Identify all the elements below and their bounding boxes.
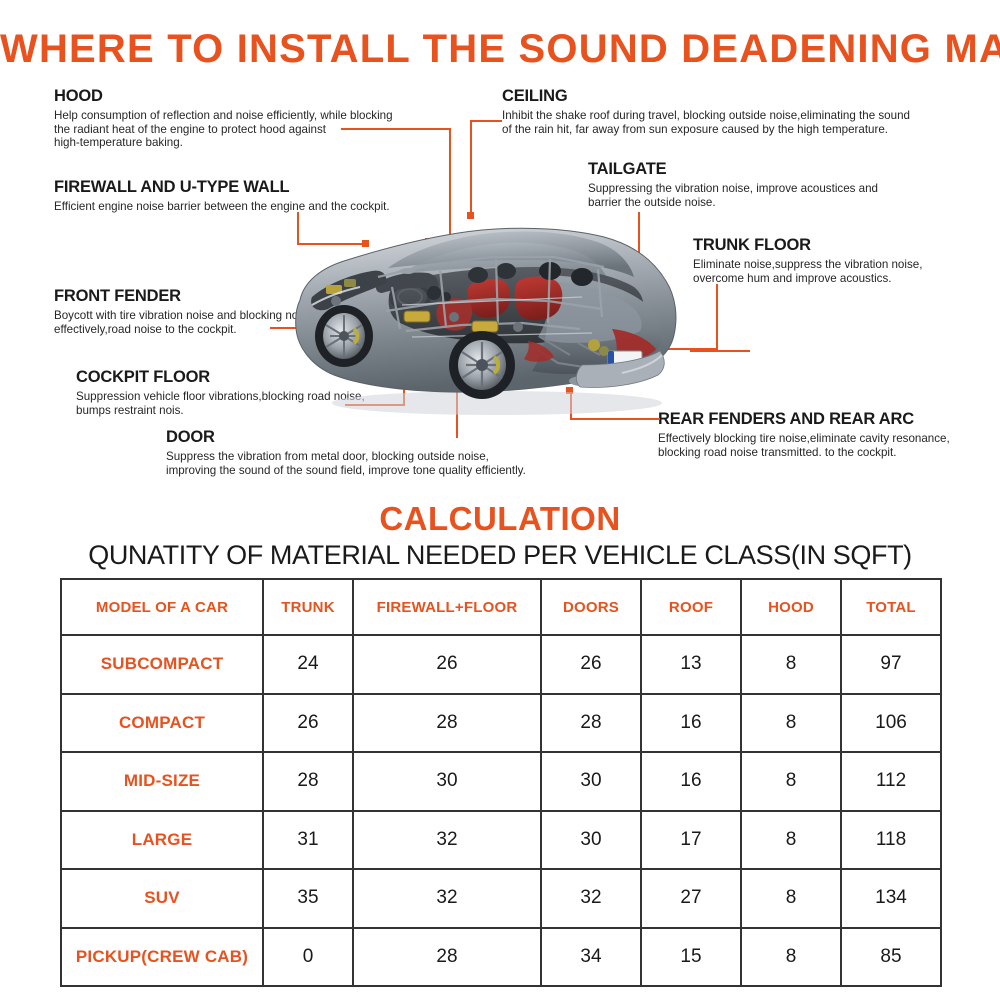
callout-ceiling-line-2: of the rain hit, far away from sun expos… — [502, 123, 962, 137]
callout-firewall-heading: FIREWALL AND U-TYPE WALL — [54, 178, 474, 197]
callout-hood-line-3: high-temperature baking. — [54, 136, 454, 150]
cell-total: 85 — [841, 928, 941, 987]
connector-trunk-floor-vertical — [716, 284, 718, 350]
cell-hood: 8 — [741, 694, 841, 753]
cell-hood: 8 — [741, 869, 841, 928]
callout-hood-line-1: Help consumption of reflection and noise… — [54, 109, 454, 123]
table-row: COMPACT 26 28 28 16 8 106 — [61, 694, 941, 753]
table-row: SUBCOMPACT 24 26 26 13 8 97 — [61, 635, 941, 694]
callout-ceiling: CEILING Inhibit the shake roof during tr… — [502, 87, 962, 136]
calculation-subtitle: QUNATITY OF MATERIAL NEEDED PER VEHICLE … — [0, 540, 1000, 571]
material-quantity-table: MODEL OF A CAR TRUNK FIREWALL+FLOOR DOOR… — [60, 578, 942, 987]
rear-wheel — [449, 331, 515, 399]
cell-model: COMPACT — [61, 694, 263, 753]
callout-rear-fenders: REAR FENDERS AND REAR ARC Effectively bl… — [658, 410, 978, 459]
callout-rear-fenders-line-1: Effectively blocking tire noise,eliminat… — [658, 432, 978, 446]
cell-firewall-floor: 32 — [353, 811, 541, 870]
callout-trunk-floor: TRUNK FLOOR Eliminate noise,suppress the… — [693, 236, 993, 285]
callout-door-heading: DOOR — [166, 428, 586, 447]
car-svg — [282, 205, 692, 420]
cell-roof: 17 — [641, 811, 741, 870]
connector-hood-horizontal — [341, 128, 451, 130]
front-wheel — [315, 305, 373, 367]
column-header-doors: DOORS — [541, 579, 641, 635]
column-header-model: MODEL OF A CAR — [61, 579, 263, 635]
callout-tailgate-heading: TAILGATE — [588, 160, 958, 179]
cell-model: MID-SIZE — [61, 752, 263, 811]
cell-model: SUV — [61, 869, 263, 928]
cell-hood: 8 — [741, 752, 841, 811]
cell-total: 118 — [841, 811, 941, 870]
infographic-page: WHERE TO INSTALL THE SOUND DEADENING MAT… — [0, 0, 1000, 1000]
callout-trunk-floor-body: Eliminate noise,suppress the vibration n… — [693, 258, 993, 285]
callout-hood: HOOD Help consumption of reflection and … — [54, 87, 454, 150]
callout-ceiling-heading: CEILING — [502, 87, 962, 106]
cell-firewall-floor: 26 — [353, 635, 541, 694]
callout-ceiling-line-1: Inhibit the shake roof during travel, bl… — [502, 109, 962, 123]
callout-hood-heading: HOOD — [54, 87, 454, 106]
cell-roof: 13 — [641, 635, 741, 694]
cell-roof: 16 — [641, 752, 741, 811]
cell-hood: 8 — [741, 635, 841, 694]
cell-trunk: 31 — [263, 811, 353, 870]
cell-hood: 8 — [741, 811, 841, 870]
callout-trunk-floor-line-2: overcome hum and improve acoustics. — [693, 272, 993, 286]
cell-model: SUBCOMPACT — [61, 635, 263, 694]
cell-doors: 28 — [541, 694, 641, 753]
cell-model: LARGE — [61, 811, 263, 870]
cell-doors: 26 — [541, 635, 641, 694]
callout-door-line-2: improving the sound of the sound field, … — [166, 464, 586, 478]
cell-trunk: 0 — [263, 928, 353, 987]
callout-ceiling-body: Inhibit the shake roof during travel, bl… — [502, 109, 962, 136]
cell-trunk: 28 — [263, 752, 353, 811]
callout-rear-fenders-body: Effectively blocking tire noise,eliminat… — [658, 432, 978, 459]
callout-tailgate-line-1: Suppressing the vibration noise, improve… — [588, 182, 958, 196]
cell-doors: 32 — [541, 869, 641, 928]
callout-tailgate: TAILGATE Suppressing the vibration noise… — [588, 160, 958, 209]
cell-firewall-floor: 32 — [353, 869, 541, 928]
cell-firewall-floor: 28 — [353, 928, 541, 987]
cell-roof: 27 — [641, 869, 741, 928]
table-row: PICKUP(CREW CAB) 0 28 34 15 8 85 — [61, 928, 941, 987]
callout-door-body: Suppress the vibration from metal door, … — [166, 450, 586, 477]
cell-hood: 8 — [741, 928, 841, 987]
table-row: SUV 35 32 32 27 8 134 — [61, 869, 941, 928]
connector-rear-arc-horizontal — [690, 350, 750, 352]
callout-door-line-1: Suppress the vibration from metal door, … — [166, 450, 586, 464]
column-header-total: TOTAL — [841, 579, 941, 635]
cell-firewall-floor: 28 — [353, 694, 541, 753]
cell-trunk: 26 — [263, 694, 353, 753]
connector-ceiling-horizontal — [470, 120, 502, 122]
table-header-row: MODEL OF A CAR TRUNK FIREWALL+FLOOR DOOR… — [61, 579, 941, 635]
callout-trunk-floor-line-1: Eliminate noise,suppress the vibration n… — [693, 258, 993, 272]
car-cutaway-illustration — [282, 205, 692, 420]
column-header-firewall-floor: FIREWALL+FLOOR — [353, 579, 541, 635]
calculation-title: CALCULATION — [0, 500, 1000, 538]
callout-rear-fenders-line-2: blocking road noise transmitted. to the … — [658, 446, 978, 460]
cell-model: PICKUP(CREW CAB) — [61, 928, 263, 987]
table-row: MID-SIZE 28 30 30 16 8 112 — [61, 752, 941, 811]
cell-total: 106 — [841, 694, 941, 753]
cell-total: 112 — [841, 752, 941, 811]
cell-total: 134 — [841, 869, 941, 928]
cell-doors: 34 — [541, 928, 641, 987]
cell-total: 97 — [841, 635, 941, 694]
cell-doors: 30 — [541, 752, 641, 811]
cell-doors: 30 — [541, 811, 641, 870]
column-header-trunk: TRUNK — [263, 579, 353, 635]
cell-trunk: 35 — [263, 869, 353, 928]
callout-trunk-floor-heading: TRUNK FLOOR — [693, 236, 993, 255]
cell-roof: 16 — [641, 694, 741, 753]
page-title: WHERE TO INSTALL THE SOUND DEADENING MAT… — [0, 27, 1000, 72]
callout-rear-fenders-heading: REAR FENDERS AND REAR ARC — [658, 410, 978, 429]
cell-trunk: 24 — [263, 635, 353, 694]
table-row: LARGE 31 32 30 17 8 118 — [61, 811, 941, 870]
column-header-roof: ROOF — [641, 579, 741, 635]
cell-firewall-floor: 30 — [353, 752, 541, 811]
cell-roof: 15 — [641, 928, 741, 987]
column-header-hood: HOOD — [741, 579, 841, 635]
callout-door: DOOR Suppress the vibration from metal d… — [166, 428, 586, 477]
